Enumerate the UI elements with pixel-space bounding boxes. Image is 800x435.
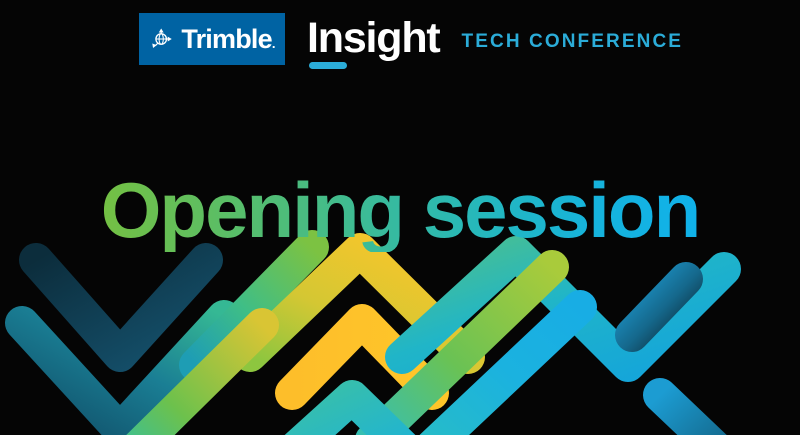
page-title: Opening session xyxy=(101,170,699,252)
trimble-company-name: Trimble xyxy=(181,24,271,54)
page-title-wrap: Opening session xyxy=(0,118,800,304)
trimble-trademark: . xyxy=(272,36,275,51)
event-tagline: TECH CONFERENCE xyxy=(462,32,684,51)
product-name: Insight xyxy=(307,17,440,60)
conference-title-slide: Trimble. Insight TECH CONFERENCE Opening… xyxy=(0,0,800,435)
product-title-group: Insight xyxy=(285,17,440,62)
chevron-blue-bottom-right xyxy=(660,395,742,435)
brand-lockup: Trimble. Insight TECH CONFERENCE xyxy=(139,13,683,65)
trimble-logo-badge: Trimble. xyxy=(139,13,285,65)
trimble-wordmark: Trimble. xyxy=(181,26,274,53)
trimble-globe-icon xyxy=(149,26,175,52)
insight-underline-accent xyxy=(309,62,347,69)
insight-block: Insight xyxy=(307,17,440,62)
